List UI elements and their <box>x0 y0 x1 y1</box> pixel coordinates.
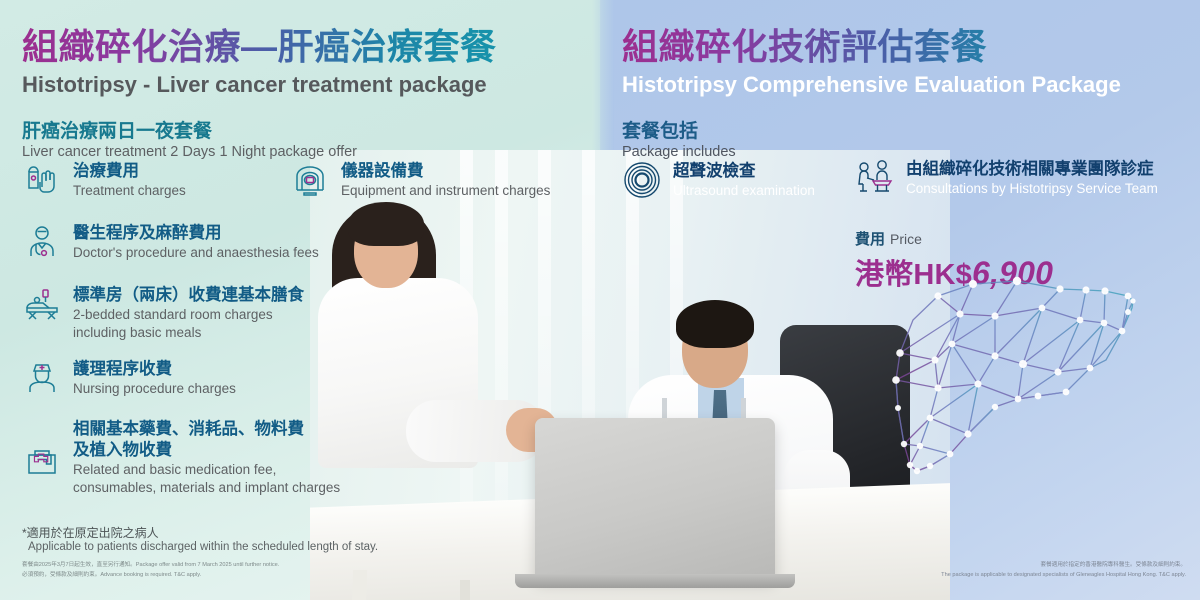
feature-nursing-charges: 護理程序收費 Nursing procedure charges <box>22 358 236 398</box>
fineprint-right: 套餐適用於指定的香港醫院專科醫生。受條款及細則約束。 The package i… <box>941 560 1186 581</box>
hospital-bed-icon <box>22 284 62 324</box>
feature-title-cn: 標準房（兩床）收費連基本膳食 <box>73 285 304 306</box>
footnote-en: Applicable to patients discharged within… <box>28 541 378 553</box>
price-label-en: Price <box>890 231 922 247</box>
feature-title-en: Equipment and instrument charges <box>341 182 550 200</box>
feature-title-en: Nursing procedure charges <box>73 380 236 398</box>
right-heading-cn: 組織碎化技術評估套餐 <box>622 18 1121 70</box>
feature-title-en-line2: consumables, materials and implant charg… <box>73 479 340 497</box>
feature-treatment-charges: 治療費用 Treatment charges <box>22 160 186 200</box>
nurse-icon <box>22 358 62 398</box>
feature-room-charges: 標準房（兩床）收費連基本膳食 2-bedded standard room ch… <box>22 284 304 342</box>
feature-title-en: Treatment charges <box>73 182 186 200</box>
treatment-hand-icon <box>22 160 62 200</box>
feature-consultations: 由組織碎化技術相關專業團隊診症 Consultations by Histotr… <box>855 158 1158 198</box>
feature-title-cn: 護理程序收費 <box>73 359 236 380</box>
ultrasound-icon <box>622 160 662 200</box>
feature-equipment-charges: 儀器設備費 Equipment and instrument charges <box>290 160 550 200</box>
feature-title-en-line1: 2-bedded standard room charges <box>73 306 304 324</box>
right-heading-en: Histotripsy Comprehensive Evaluation Pac… <box>622 72 1121 98</box>
fineprint-right-line1: 套餐適用於指定的香港醫院專科醫生。受條款及細則約束。 <box>941 560 1186 570</box>
feature-title-en: Consultations by Histotripsy Service Tea… <box>906 180 1158 198</box>
left-subtitle-cn: 肝癌治療兩日一夜套餐 <box>22 116 497 143</box>
feature-title-en: Ultrasound examination <box>673 182 815 200</box>
feature-doctor-fees: 醫生程序及麻醉費用 Doctor's procedure and anaesth… <box>22 222 319 262</box>
doctor-consulting-patient-photo <box>310 150 950 600</box>
feature-title-en-line1: Related and basic medication fee, <box>73 461 340 479</box>
right-subtitle-cn: 套餐包括 <box>622 116 1121 143</box>
feature-title-cn: 由組織碎化技術相關專業團隊診症 <box>906 159 1158 180</box>
feature-title-cn: 治療費用 <box>73 161 186 182</box>
left-panel-header: 組織碎化治療—肝癌治療套餐 Histotripsy - Liver cancer… <box>22 18 497 160</box>
feature-title-en: Doctor's procedure and anaesthesia fees <box>73 244 319 262</box>
feature-medication-charges: 相關基本藥費、消耗品、物料費 及植入物收費 Related and basic … <box>22 418 340 497</box>
footnote-left: *適用於在原定出院之病人 Applicable to patients disc… <box>22 524 378 553</box>
price-label: 費用Price <box>855 228 1053 249</box>
feature-title-cn-line2: 及植入物收費 <box>73 440 340 461</box>
banner: 組織碎化治療—肝癌治療套餐 Histotripsy - Liver cancer… <box>0 0 1200 600</box>
footnote-cn: *適用於在原定出院之病人 <box>22 524 378 541</box>
price-label-cn: 費用 <box>855 231 885 248</box>
left-heading-en: Histotripsy - Liver cancer treatment pac… <box>22 72 497 98</box>
feature-title-cn: 醫生程序及麻醉費用 <box>73 223 319 244</box>
feature-title-cn-line1: 相關基本藥費、消耗品、物料費 <box>73 419 340 440</box>
feature-title-cn: 超聲波檢查 <box>673 161 815 182</box>
feature-title-en-line2: including basic meals <box>73 324 304 342</box>
laptop <box>535 418 775 578</box>
feature-ultrasound: 超聲波檢查 Ultrasound examination <box>622 160 815 200</box>
fineprint-left: 套餐由2025年3月7日起生效，直至另行通知。Package offer val… <box>22 560 279 581</box>
fineprint-right-line2: The package is applicable to designated … <box>941 570 1186 580</box>
fineprint-left-line2: 必須預約，受條款及細則約束。Advance booking is require… <box>22 570 279 580</box>
right-panel-header: 組織碎化技術評估套餐 Histotripsy Comprehensive Eva… <box>622 18 1121 160</box>
mri-scanner-icon <box>290 160 330 200</box>
left-subtitle-en: Liver cancer treatment 2 Days 1 Night pa… <box>22 144 497 160</box>
medical-kit-icon <box>22 440 62 480</box>
consultation-icon <box>855 158 895 198</box>
fineprint-left-line1: 套餐由2025年3月7日起生效，直至另行通知。Package offer val… <box>22 560 279 570</box>
polygonal-liver-illustration <box>890 268 1190 503</box>
left-heading-cn: 組織碎化治療—肝癌治療套餐 <box>22 18 497 70</box>
feature-title-cn: 儀器設備費 <box>341 161 550 182</box>
doctor-icon <box>22 222 62 262</box>
